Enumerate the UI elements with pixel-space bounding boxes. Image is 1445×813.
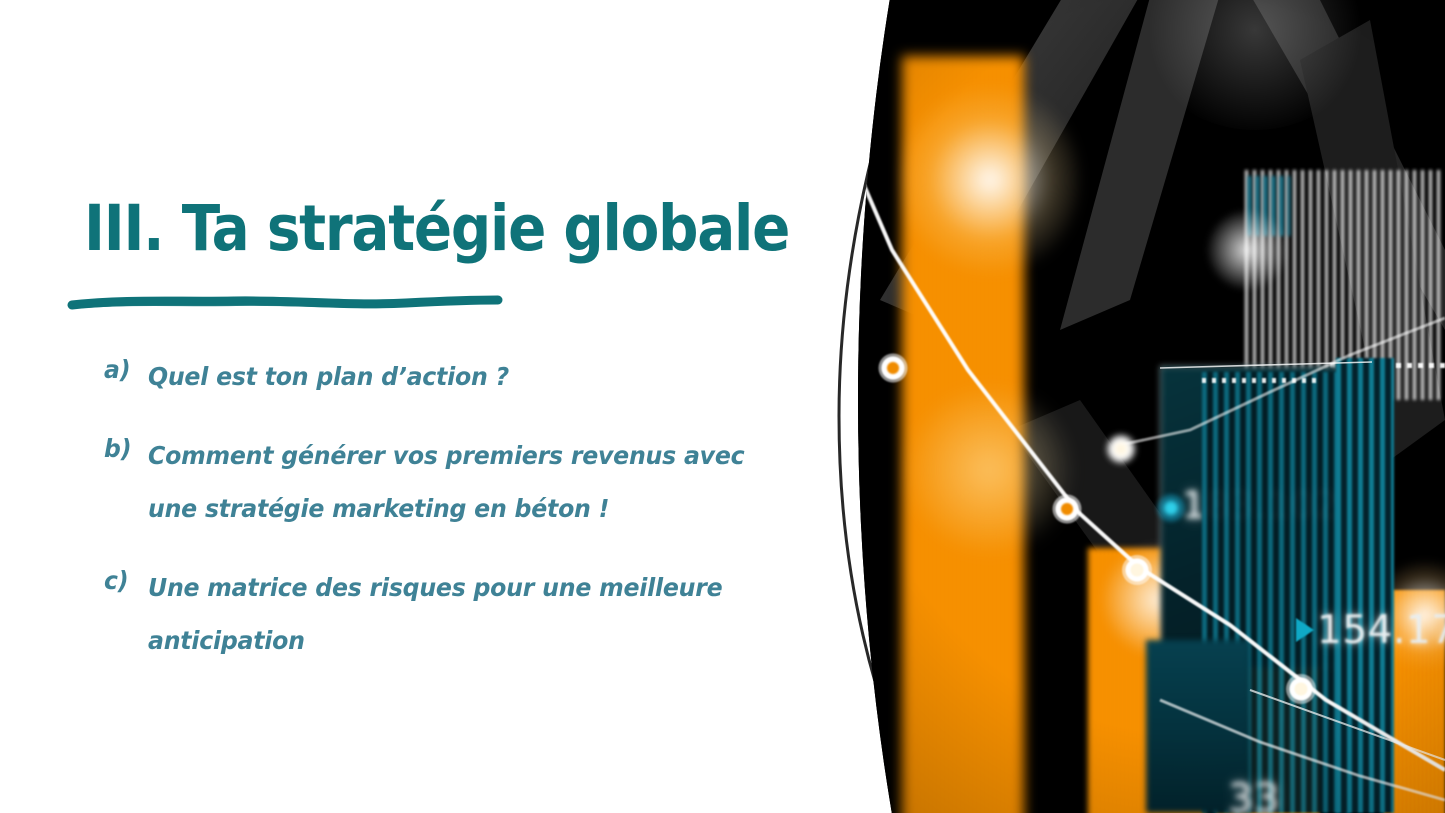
hand-drawn-underline-icon — [66, 286, 506, 318]
decorative-photo-panel: 183.102 154.17 33 — [830, 0, 1445, 813]
slide-canvas: III. Ta stratégie globale a) Quel est to… — [0, 0, 1445, 813]
list-item-label: Quel est ton plan d’action ? — [148, 350, 768, 403]
page-title: III. Ta stratégie globale — [84, 196, 728, 262]
photo-image: 183.102 154.17 33 — [830, 0, 1445, 813]
panel-guide-lines — [830, 0, 1445, 813]
list-item-marker: c) — [104, 561, 145, 601]
list-item-label: Comment générer vos premiers revenus ave… — [148, 429, 768, 535]
list-item: b) Comment générer vos premiers revenus … — [104, 429, 804, 535]
list-item-marker: b) — [104, 429, 145, 469]
list-item: a) Quel est ton plan d’action ? — [104, 350, 804, 403]
list-item-label: Une matrice des risques pour une meilleu… — [148, 561, 768, 667]
text-column: III. Ta stratégie globale a) Quel est to… — [0, 0, 830, 813]
list-item-marker: a) — [104, 350, 145, 390]
bullet-list: a) Quel est ton plan d’action ? b) Comme… — [104, 350, 804, 693]
list-item: c) Une matrice des risques pour une meil… — [104, 561, 804, 667]
